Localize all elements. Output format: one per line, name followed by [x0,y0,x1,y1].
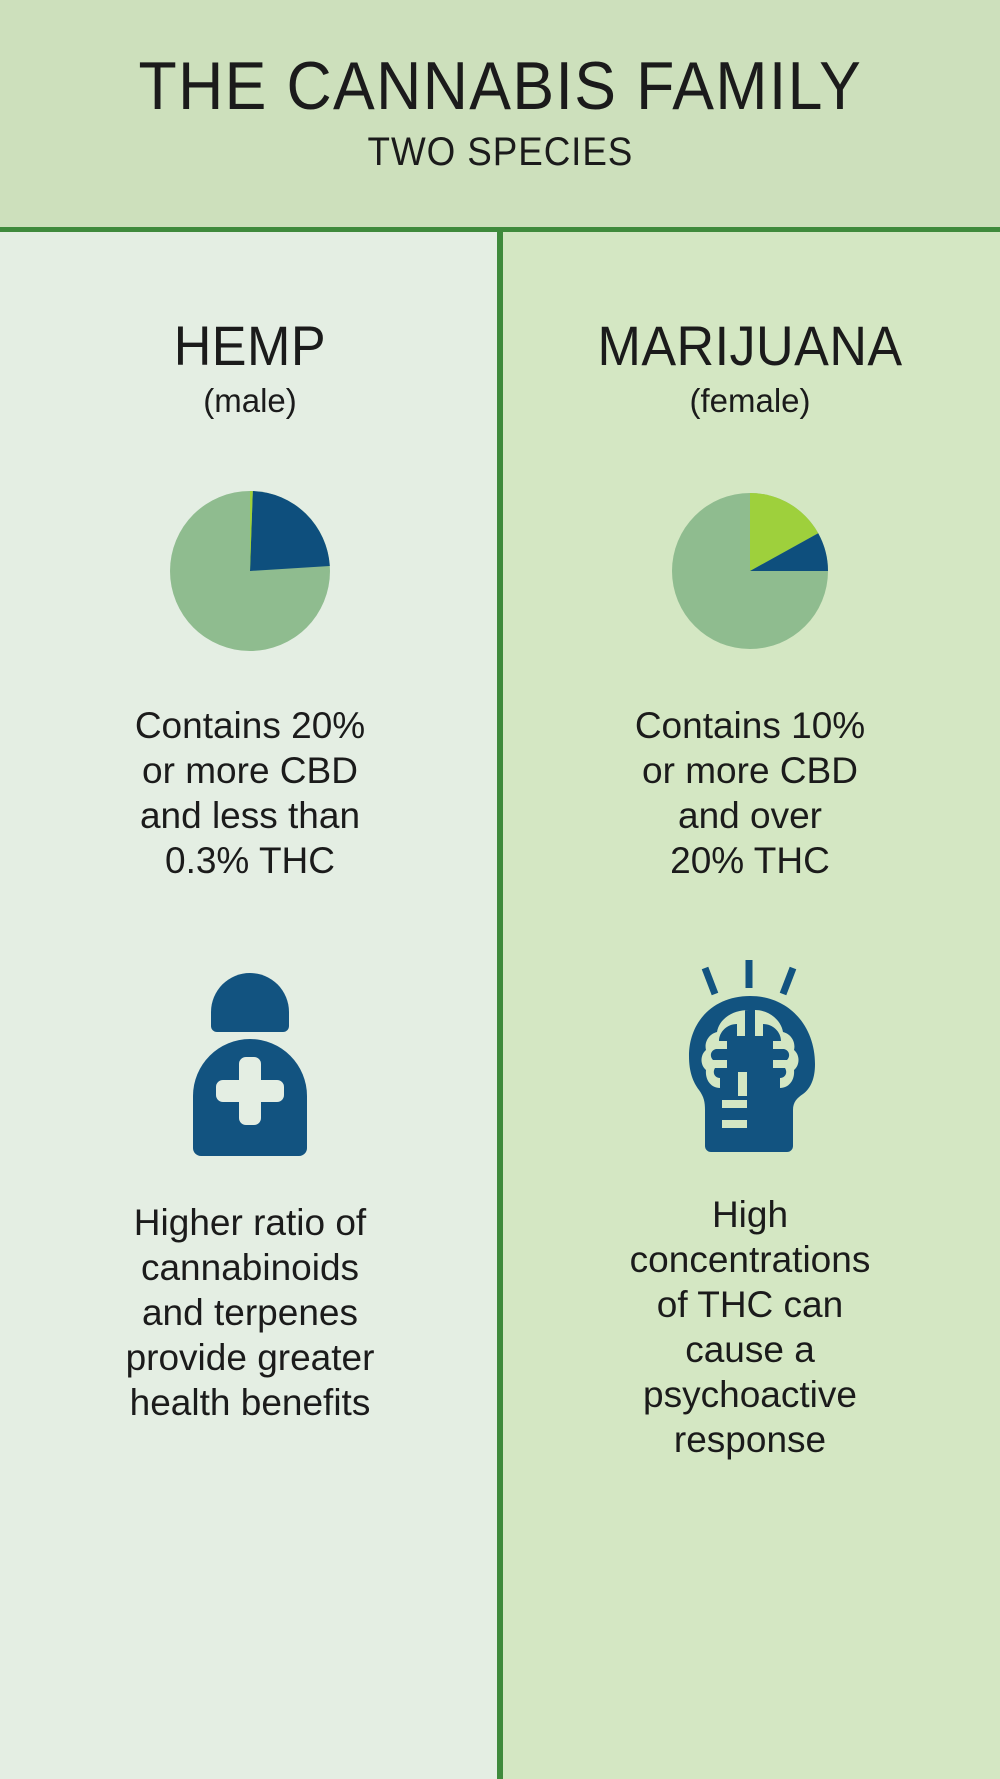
fact-text-hemp: Contains 20% or more CBD and less than 0… [135,703,365,884]
fact-text-marijuana: Contains 10% or more CBD and over 20% TH… [635,703,865,884]
page-subtitle: TWO SPECIES [367,130,633,175]
benefit-text-marijuana: High concentrations of THC can cause a p… [630,1192,871,1463]
species-sex-marijuana: (female) [689,384,810,417]
brain-head-icon [675,942,825,1152]
benefit-text-hemp: Higher ratio of cannabinoids and terpene… [126,1200,375,1426]
page-title: THE CANNABIS FAMILY [138,52,862,121]
pie-chart-marijuana [671,491,829,651]
cannabis-family-infographic: THE CANNABIS FAMILY TWO SPECIES HEMP (ma… [0,0,1000,1779]
column-marijuana: MARIJUANA (female) Contains 10% or more … [500,232,1000,1779]
species-name-hemp: HEMP [174,318,326,374]
column-hemp: HEMP (male) Contains 20% or more CBD and… [0,232,500,1779]
column-divider [497,232,503,1779]
pie-chart-hemp [169,491,331,651]
medicine-bottle-icon [181,950,319,1160]
header-banner: THE CANNABIS FAMILY TWO SPECIES [0,0,1000,232]
species-sex-hemp: (male) [203,384,297,417]
species-name-marijuana: MARIJUANA [597,318,902,374]
